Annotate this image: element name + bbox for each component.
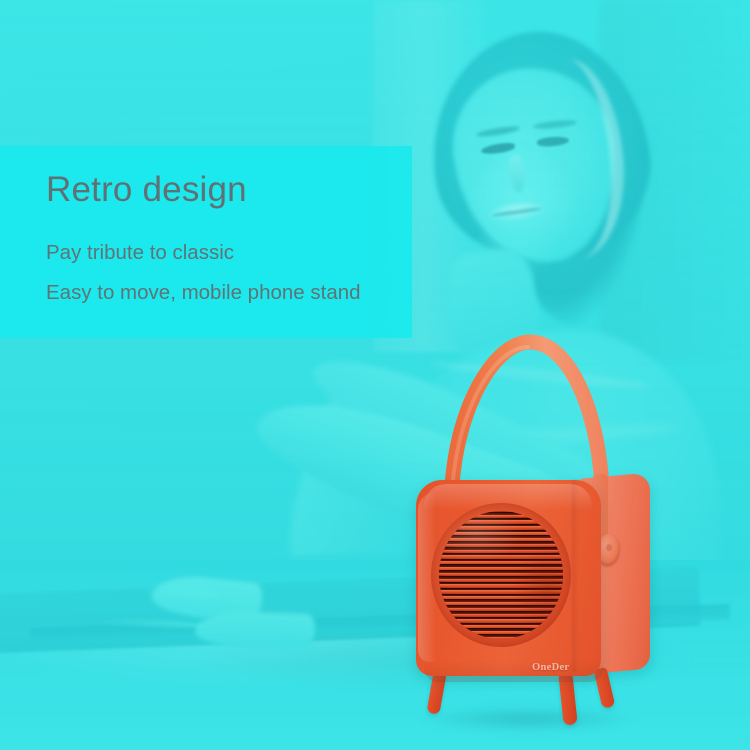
product-speaker: OneDer	[0, 0, 750, 750]
volume-knob-indicator	[606, 544, 612, 551]
grille-rib	[439, 637, 563, 639]
body-bottom-shadow	[424, 660, 604, 682]
promo-banner-image: Retro design Pay tribute to classic Easy…	[0, 0, 750, 750]
brand-logo: OneDer	[532, 662, 569, 673]
leg-shadow	[420, 706, 635, 732]
speaker-grille	[439, 511, 563, 639]
